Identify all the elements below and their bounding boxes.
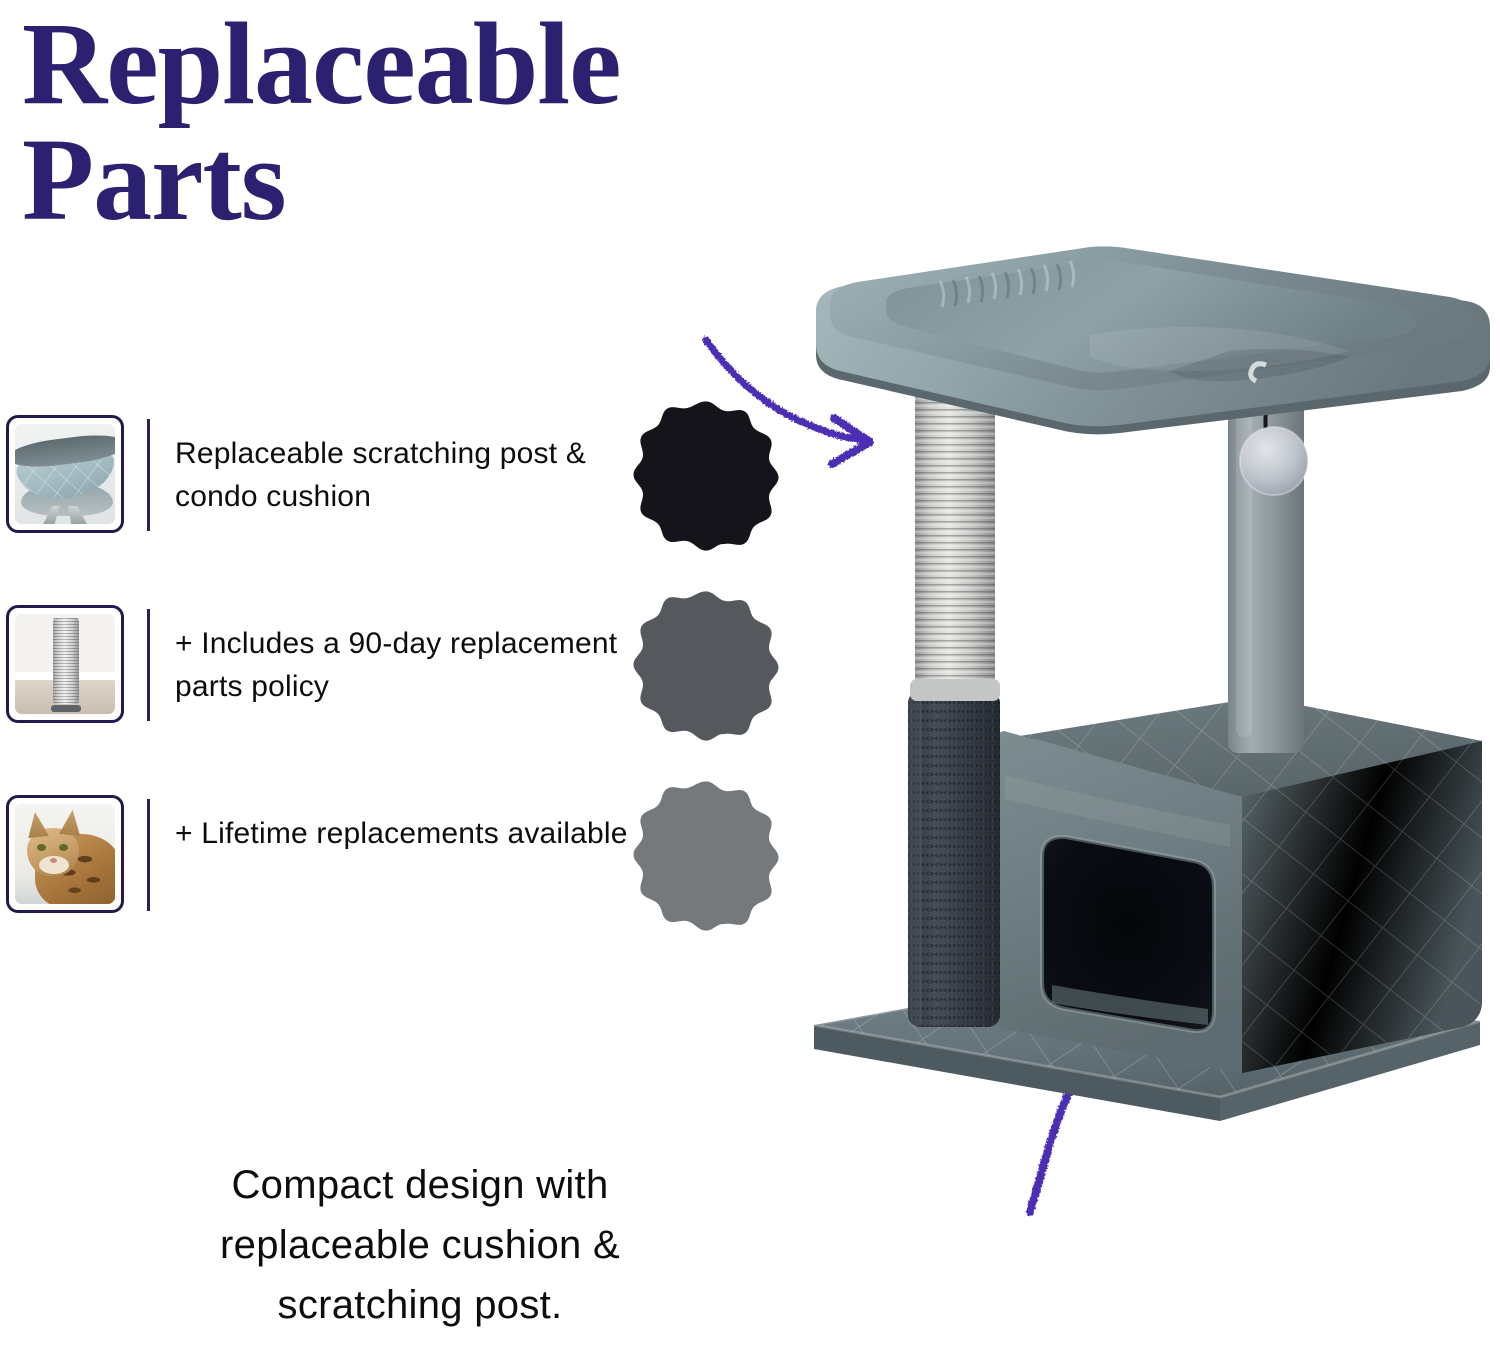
scratching-post-thumbnail-art [15, 614, 115, 714]
scallop-badge-dark [632, 398, 780, 556]
feature-list: Replaceable scratching post & condo cush… [0, 415, 640, 985]
scallop-shape-path [633, 781, 778, 930]
feature-row: + Lifetime replacements available [0, 795, 640, 985]
feature-text: Replaceable scratching post & condo cush… [175, 433, 635, 518]
scratching-post-thumbnail [6, 605, 124, 723]
feature-row: Replaceable scratching post & condo cush… [0, 415, 640, 605]
feature-divider [147, 419, 150, 531]
groomer-brush-post [908, 691, 1000, 1027]
feature-divider [147, 799, 150, 911]
scallop-badge-light [632, 778, 780, 936]
feature-text: + Includes a 90-day replacement parts po… [175, 623, 635, 708]
scallop-badge-medium [632, 588, 780, 746]
cushion-thumbnail-art [15, 424, 115, 524]
bottom-caption-line-1: Compact design with [100, 1155, 740, 1215]
condo-cube [995, 697, 1482, 1073]
scallop-shape-path [633, 591, 778, 740]
cushion-thumbnail [6, 415, 124, 533]
product-photo [790, 185, 1500, 1135]
bottom-caption-line-2: replaceable cushion & [100, 1215, 740, 1275]
feature-row: + Includes a 90-day replacement parts po… [0, 605, 640, 795]
cat-thumbnail-art [15, 804, 115, 904]
bottom-caption: Compact design with replaceable cushion … [100, 1155, 740, 1335]
page-title: Replaceable Parts [22, 6, 822, 237]
feature-divider [147, 609, 150, 721]
scallop-shape-path [633, 401, 778, 550]
title-line-2: Parts [22, 122, 822, 238]
bottom-caption-line-3: scratching post. [100, 1275, 740, 1335]
title-line-1: Replaceable [22, 6, 822, 122]
cat-thumbnail [6, 795, 124, 913]
feature-text: + Lifetime replacements available [175, 813, 635, 856]
